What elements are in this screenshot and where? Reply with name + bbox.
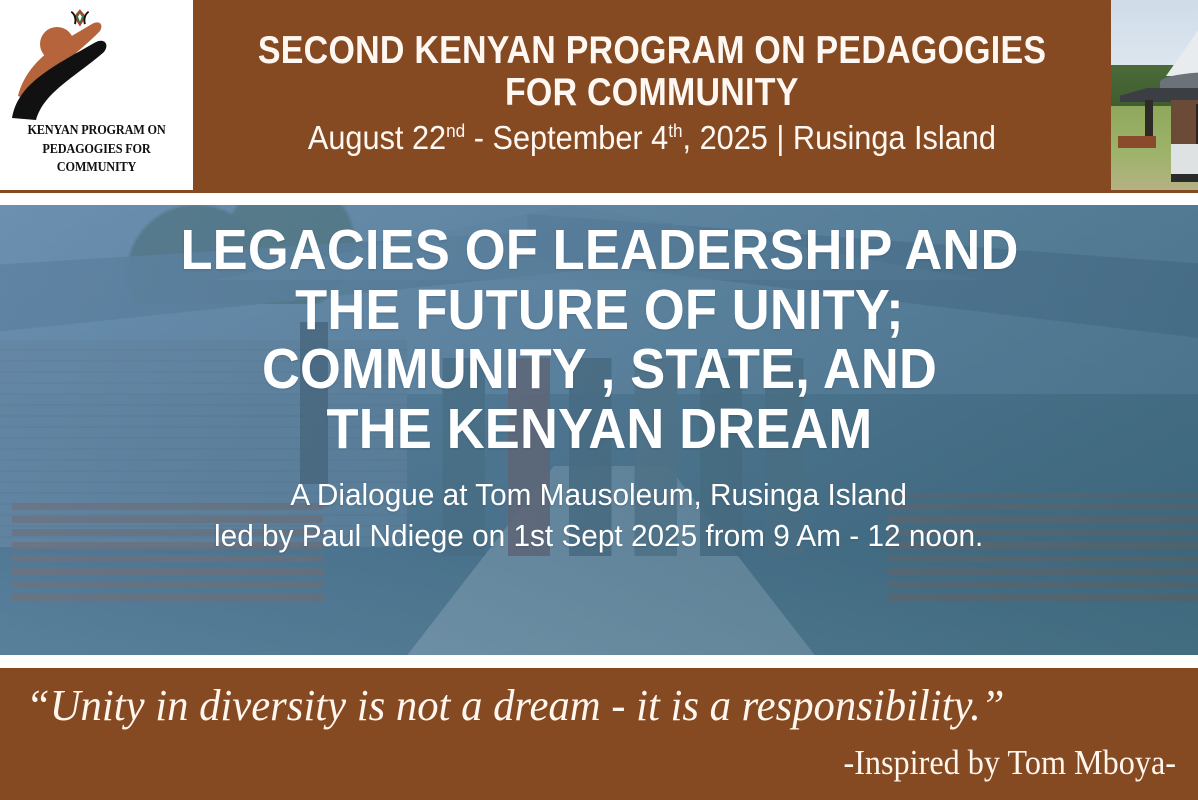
hero-content: LEGACIES OF LEADERSHIP AND THE FUTURE OF… [0,205,1198,655]
header-divider-rule [0,190,1198,193]
program-title-line-2: FOR COMMUNITY [505,72,799,114]
quote-band: “Unity in diversity is not a dream - it … [0,668,1198,800]
logo-wordmark: KENYAN PROGRAM ON PEDAGOGIES FOR COMMUNI… [7,121,186,176]
logo-line-1: KENYAN PROGRAM ON [27,122,165,137]
event-detail-line-1: A Dialogue at Tom Mausoleum, Rusinga Isl… [214,474,983,515]
event-title: LEGACIES OF LEADERSHIP AND THE FUTURE OF… [180,221,1018,459]
mausoleum-photo [1111,0,1198,190]
event-title-line-1: LEGACIES OF LEADERSHIP AND [180,221,1018,281]
program-title-line-1: SECOND KENYAN PROGRAM ON PEDAGOGIES [258,30,1046,72]
poster-header: KENYAN PROGRAM ON PEDAGOGIES FOR COMMUNI… [0,0,1198,190]
program-dates-and-venue: August 22nd - September 4th, 2025 | Rusi… [308,121,996,156]
event-title-line-2: THE FUTURE OF UNITY; [180,281,1018,341]
bench [1118,136,1156,148]
date-suffix: , 2025 | Rusinga Island [683,119,996,156]
kpc-human-figure-logo [0,2,193,120]
date-prefix: August 22 [308,119,446,156]
event-detail-line-2: led by Paul Ndiege on 1st Sept 2025 from… [214,515,983,556]
date-mid: - September 4 [465,119,668,156]
event-title-line-3: COMMUNITY , STATE, AND [180,340,1018,400]
event-poster: KENYAN PROGRAM ON PEDAGOGIES FOR COMMUNI… [0,0,1198,800]
quote-attribution: -Inspired by Tom Mboya- [118,743,1176,783]
date-ordinal-nd: nd [446,120,465,141]
hero-section: LEGACIES OF LEADERSHIP AND THE FUTURE OF… [0,205,1198,655]
header-brown-band: SECOND KENYAN PROGRAM ON PEDAGOGIES FOR … [193,0,1111,190]
logo-line-2: PEDAGOGIES FOR COMMUNITY [42,141,150,174]
tomb-slab [1171,144,1198,182]
mausoleum-illustration [1111,0,1198,190]
event-details: A Dialogue at Tom Mausoleum, Rusinga Isl… [214,474,983,556]
quote-text: “Unity in diversity is not a dream - it … [26,680,1142,731]
conical-roof [1166,2,1198,76]
logo-panel: KENYAN PROGRAM ON PEDAGOGIES FOR COMMUNI… [0,0,193,190]
date-ordinal-th: th [668,120,682,141]
event-title-line-4: THE KENYAN DREAM [180,400,1018,460]
